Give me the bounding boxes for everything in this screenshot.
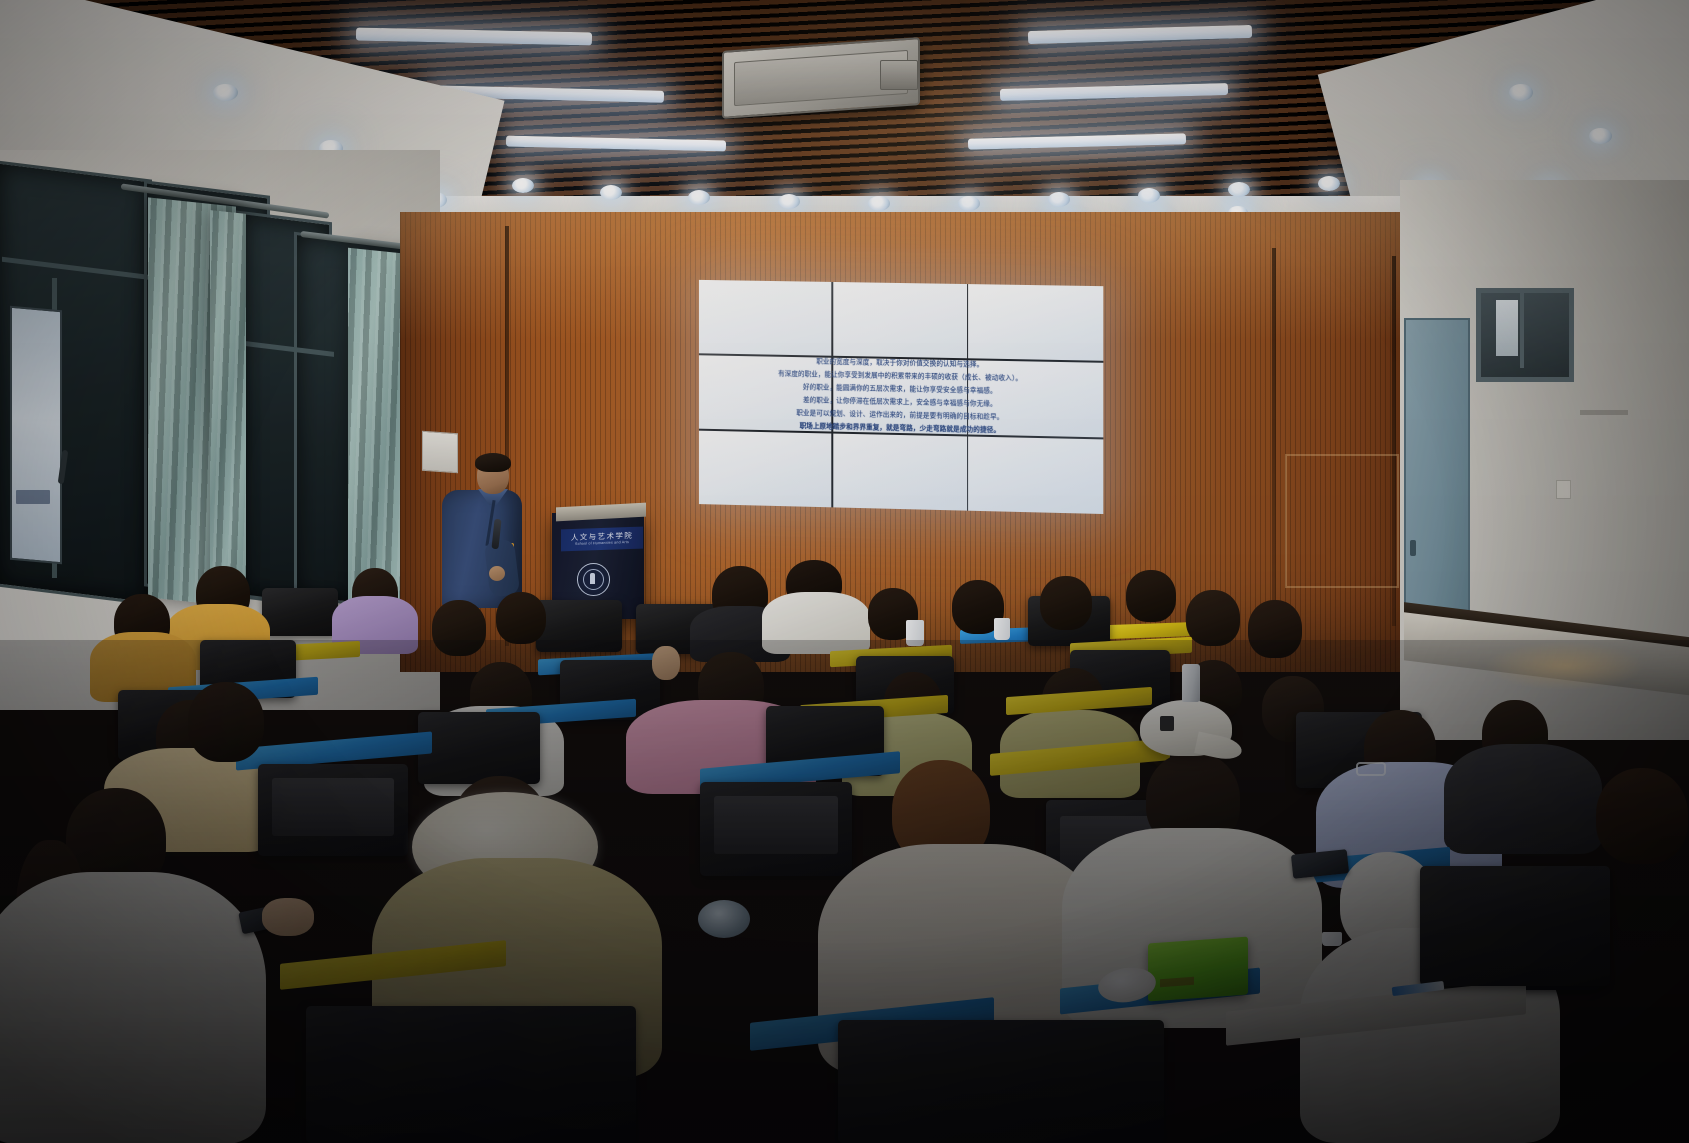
high-window-mullion — [1520, 292, 1524, 368]
downlight-back-7 — [1048, 192, 1070, 207]
video-wall-panel — [699, 430, 831, 507]
cap-logo-icon — [1160, 716, 1174, 731]
chair-back-1 — [262, 588, 338, 636]
paper-cup-3 — [1322, 932, 1342, 946]
video-wall-panel — [968, 284, 1103, 361]
presenter-hair — [475, 453, 511, 472]
chair-front-2-slot — [714, 796, 838, 854]
tissue-box — [1148, 937, 1248, 1002]
downlight-back-4 — [778, 194, 800, 209]
downlight-back-1 — [512, 178, 534, 193]
student-hand-2 — [652, 646, 680, 680]
chair-bottom-1 — [306, 1006, 636, 1143]
downlight-left-1 — [213, 84, 238, 101]
downlight-back-2 — [600, 185, 622, 200]
student-head-b6 — [1040, 576, 1092, 630]
university-seal-mark — [590, 573, 595, 584]
video-wall-panel — [968, 436, 1103, 514]
wall-access-panel — [1285, 454, 1399, 588]
high-window-pane — [1496, 300, 1518, 356]
water-bottle-2 — [1182, 664, 1199, 702]
student-head-b7 — [1126, 570, 1176, 622]
chair-frontmid-2 — [418, 712, 540, 784]
downlight-back-9 — [1228, 182, 1250, 197]
downlight-back-6 — [958, 196, 980, 211]
lecture-hall-photo: 职业的宽度与深度，取决于你对价值交换的认知与选择。 有深度的职业，能让你享受到发… — [0, 0, 1689, 1143]
video-wall-panel — [833, 433, 967, 510]
chair-front-1-slot — [272, 778, 394, 836]
right-door-handle[interactable] — [1410, 540, 1416, 556]
downlight-back-8 — [1138, 188, 1160, 203]
paper-cup-1 — [906, 620, 924, 646]
entry-door-glass[interactable] — [10, 306, 62, 565]
student-head-b8 — [1186, 590, 1240, 646]
student-hand-1 — [262, 898, 314, 936]
lcd-video-wall[interactable]: 职业的宽度与深度，取决于你对价值交换的认知与选择。 有深度的职业，能让你享受到发… — [699, 280, 1103, 514]
paper-cup-2 — [994, 618, 1010, 640]
downlight-right-1 — [1509, 84, 1533, 101]
wall-seam-right — [1272, 248, 1276, 628]
video-wall-panel — [699, 280, 831, 356]
student-head-l4 — [496, 592, 546, 644]
student-head-g5 — [188, 682, 264, 762]
student-head-l3 — [432, 600, 486, 656]
video-wall-panel — [833, 358, 967, 435]
video-wall-panel — [833, 282, 967, 359]
video-wall-panel-grid — [699, 280, 1103, 514]
downlight-back-10 — [1318, 176, 1340, 191]
plastic-water-pouch — [698, 900, 750, 938]
presenter-hand — [489, 566, 505, 581]
downlight-back-5 — [868, 196, 890, 211]
eyeglasses-icon — [1356, 762, 1386, 776]
wall-scuff-marks — [1580, 410, 1628, 415]
curtain-panel-2[interactable] — [210, 210, 246, 614]
downlight-back-3 — [688, 190, 710, 205]
student-head-b9 — [1248, 600, 1302, 658]
student-body-f4 — [1444, 744, 1602, 854]
video-wall-panel — [699, 355, 831, 432]
wall-outlet[interactable] — [1556, 480, 1571, 499]
high-wall-window — [1476, 288, 1574, 382]
video-wall-panel — [968, 360, 1103, 437]
chair-bottom-3 — [1420, 866, 1610, 986]
ac-vent — [880, 60, 918, 90]
lectern-nameplate: 人文与艺术学院 School of Humanities and Arts — [561, 527, 643, 552]
door-notice-sign — [16, 490, 50, 504]
chair-back-2 — [536, 600, 622, 652]
student-body-g4 — [0, 872, 266, 1143]
wall-notice-card — [422, 431, 458, 474]
chair-bottom-2 — [838, 1020, 1164, 1143]
student-body-b3 — [762, 592, 870, 654]
lectern-en-title: School of Humanities and Arts — [575, 541, 629, 546]
student-head-g7 — [1596, 768, 1688, 864]
downlight-right-2 — [1589, 128, 1612, 144]
